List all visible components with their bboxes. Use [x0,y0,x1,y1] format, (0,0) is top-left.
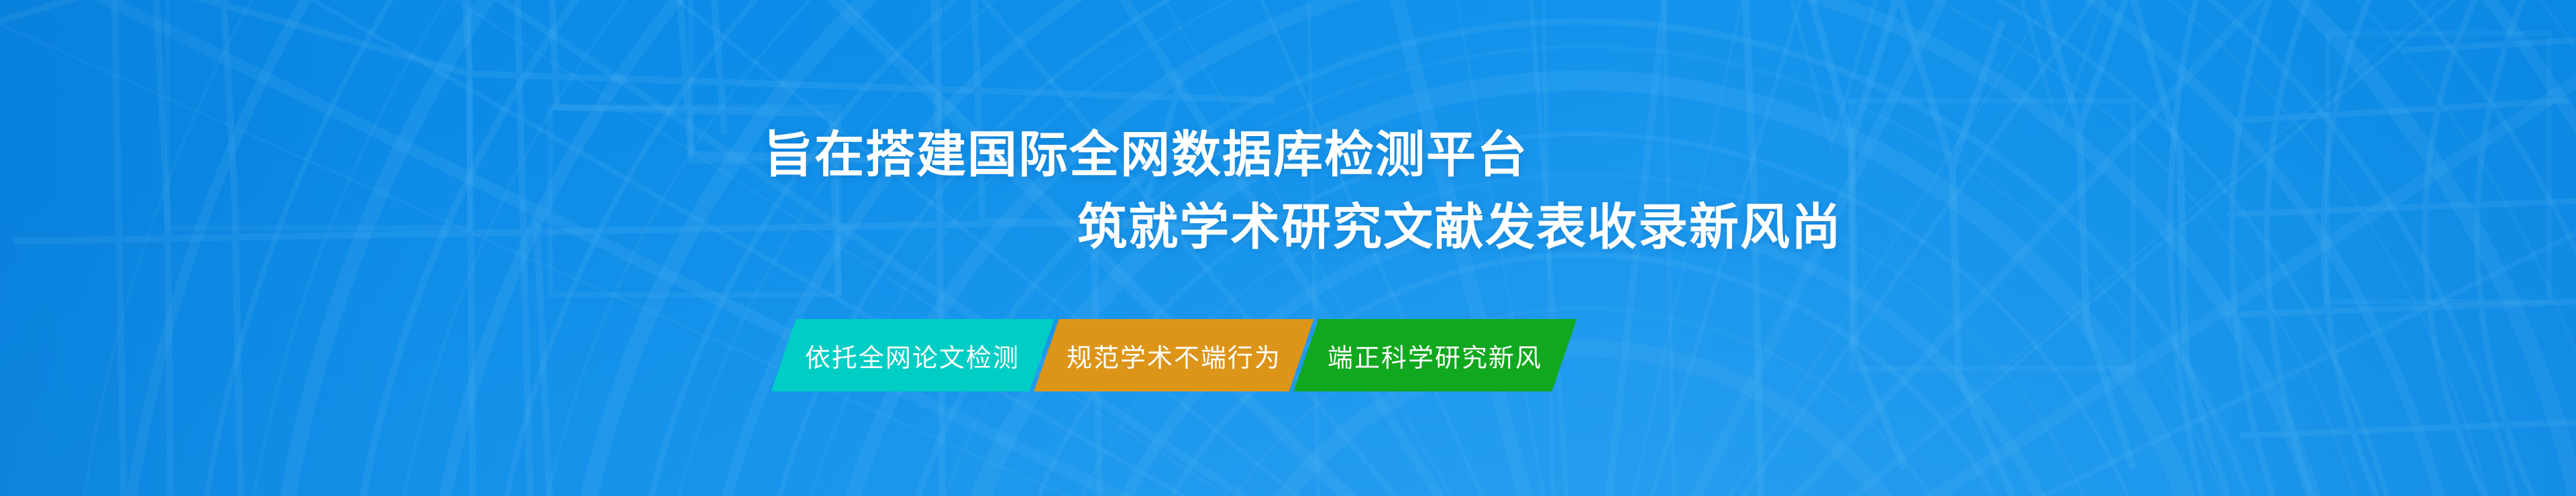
feature-tag-misconduct-label: 规范学术不端行为 [1067,337,1281,374]
feature-tag-detection[interactable]: 依托全网论文检测 [771,319,1054,391]
feature-tag-band: 依托全网论文检测 规范学术不端行为 端正科学研究新风 [784,319,1564,391]
feature-tag-integrity[interactable]: 端正科学研究新风 [1293,319,1576,391]
promo-banner: 旨在搭建国际全网数据库检测平台 筑就学术研究文献发表收录新风尚 依托全网论文检测… [0,0,2576,496]
feature-tag-integrity-label: 端正科学研究新风 [1328,337,1542,374]
feature-tag-detection-label: 依托全网论文检测 [805,337,1020,374]
headline-line-2: 筑就学术研究文献发表收录新风尚 [1077,198,1842,256]
banner-content: 旨在搭建国际全网数据库检测平台 筑就学术研究文献发表收录新风尚 依托全网论文检测… [0,0,2576,496]
feature-tag-misconduct[interactable]: 规范学术不端行为 [1034,319,1313,391]
headline-line-1: 旨在搭建国际全网数据库检测平台 [763,126,1528,184]
